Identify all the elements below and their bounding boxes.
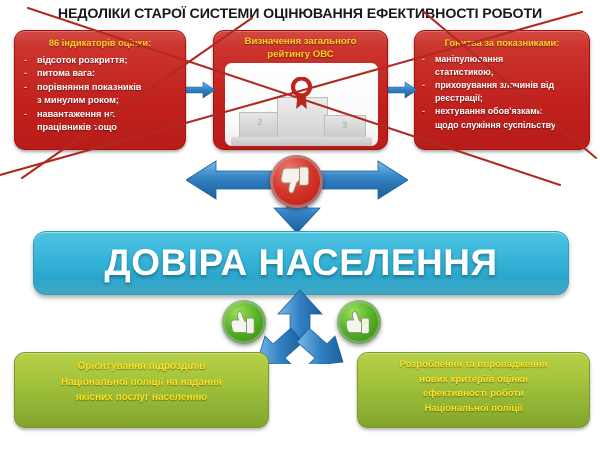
list-item: - навантаження на працівників тощо [23, 108, 181, 135]
problem-box-chasing-numbers-heading: Гонитва за показниками: [415, 31, 589, 50]
problem-box-indicators[interactable]: 86 індикаторів оцінки: - відсоток розкри… [14, 30, 186, 150]
list-item-line: реєстрації; [435, 92, 586, 105]
bullet-dash: - [422, 79, 425, 92]
podium-illustration: 2 3 [225, 63, 378, 146]
thumbs-down-glyph [270, 155, 323, 208]
thumbs-up-glyph [222, 300, 266, 344]
podium-step-2-label: 2 [240, 117, 280, 127]
solution-line: нових критеріїв оцінки [364, 373, 583, 388]
podium-step-2: 2 [239, 112, 281, 138]
thumbs-up-glyph [337, 300, 381, 344]
problem-box-indicators-list: - відсоток розкриття; - питома вага: - п… [15, 54, 185, 136]
solution-line: ефективності роботи [364, 387, 583, 402]
page-title: НЕДОЛІКИ СТАРОЇ СИСТЕМИ ОЦІНЮВАННЯ ЕФЕКТ… [0, 6, 600, 22]
bullet-dash: - [422, 105, 425, 118]
podium-base [231, 137, 372, 146]
award-rosette-icon [289, 77, 314, 110]
list-item-line: статистикою; [435, 66, 586, 79]
thumbs-up-icon [337, 300, 381, 344]
solution-line: Національної поліції [364, 402, 583, 417]
solution-box-orientation[interactable]: Орієнтування підрозділів Національної по… [14, 352, 269, 428]
podium-step-3-label: 3 [325, 120, 365, 130]
problem-box-indicators-heading: 86 індикаторів оцінки: [15, 31, 185, 50]
arrow-right-icon [186, 81, 216, 99]
list-item-line: маніпулювання [435, 53, 586, 66]
thumbs-up-icon [222, 300, 266, 344]
podium-graphic: 2 3 [225, 80, 378, 138]
podium-step-3: 3 [324, 115, 366, 138]
solution-line: якісних послуг населенню [21, 390, 262, 406]
list-item: - маніпулювання статистикою; [421, 53, 586, 79]
problem-box-chasing-numbers[interactable]: Гонитва за показниками: - маніпулювання … [414, 30, 590, 150]
list-item: - відсоток розкриття; [23, 54, 181, 68]
list-item-line: порівняння показників [37, 81, 181, 95]
solution-line: Розроблення та впровадження [364, 358, 583, 373]
trust-banner[interactable]: ДОВІРА НАСЕЛЕННЯ [33, 231, 569, 295]
list-item-line: відсоток розкриття; [37, 54, 181, 68]
list-item-line: щодо служіння суспільству [435, 119, 586, 132]
list-item-line: працівників тощо [37, 121, 181, 135]
bullet-dash: - [24, 67, 27, 81]
list-item-line: навантаження на [37, 108, 181, 122]
problem-box-rating-heading-line2: рейтингу ОВС [214, 49, 387, 62]
list-item-line: приховування злочинів від [435, 79, 586, 92]
problem-box-chasing-numbers-list: - маніпулювання статистикою; - приховува… [415, 53, 589, 132]
problem-box-rating-heading: Визначення загального рейтингу ОВС [214, 31, 387, 62]
problem-box-rating[interactable]: Визначення загального рейтингу ОВС 2 3 [213, 30, 388, 150]
solution-line: Національної поліції на надання [21, 375, 262, 391]
list-item-line: нехтування обов'язками [435, 105, 586, 118]
bullet-dash: - [24, 81, 27, 95]
list-item-line: питома вага: [37, 67, 181, 81]
solution-line: Орієнтування підрозділів [21, 359, 262, 375]
list-item: - нехтування обов'язками щодо служіння с… [421, 105, 586, 131]
list-item: - приховування злочинів від реєстрації; [421, 79, 586, 105]
bullet-dash: - [24, 108, 27, 122]
list-item: - питома вага: [23, 67, 181, 81]
slide-canvas: НЕДОЛІКИ СТАРОЇ СИСТЕМИ ОЦІНЮВАННЯ ЕФЕКТ… [0, 0, 600, 450]
three-way-arrow-icon [255, 288, 345, 364]
bullet-dash: - [24, 54, 27, 68]
solution-box-new-criteria[interactable]: Розроблення та впровадження нових критер… [357, 352, 590, 428]
list-item-line: з минулим роком; [37, 94, 181, 108]
bullet-dash: - [422, 53, 425, 66]
list-item: - порівняння показників з минулим роком; [23, 81, 181, 108]
thumbs-down-icon [270, 155, 323, 208]
arrow-right-icon [388, 81, 418, 99]
trust-banner-label: ДОВІРА НАСЕЛЕННЯ [104, 242, 497, 284]
solution-box-new-criteria-text: Розроблення та впровадження нових критер… [358, 353, 589, 416]
problem-box-rating-heading-line1: Визначення загального [214, 36, 387, 49]
solution-box-orientation-text: Орієнтування підрозділів Національної по… [15, 353, 268, 406]
